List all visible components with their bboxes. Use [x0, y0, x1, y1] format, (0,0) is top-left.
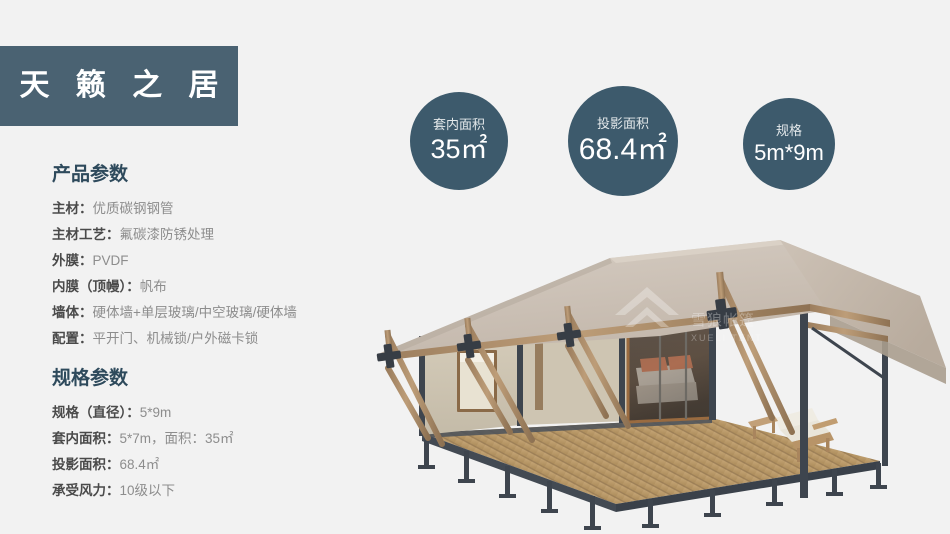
badge-projected-area: 投影面积 68.4㎡: [568, 86, 678, 196]
spec-label: 内膜（顶幔）：: [52, 279, 140, 294]
spec-panel: 产品参数 主材：优质碳钢钢管 主材工艺：氟碳漆防锈处理 外膜：PVDF 内膜（顶…: [52, 164, 372, 520]
spec-row: 投影面积：68.4㎡: [52, 452, 372, 478]
spec-value: 10级以下: [120, 483, 176, 498]
spec-value: 帆布: [140, 279, 167, 294]
spec-label: 配置：: [52, 331, 93, 346]
specification-parameters-section: 规格参数 规格（直径）：5*9m 套内面积：5*7m，面积：35㎡ 投影面积：6…: [52, 368, 372, 504]
spec-row: 承受风力：10级以下: [52, 478, 372, 504]
tent-illustration: 雪狼帐篷 XUELI TENT: [360, 218, 950, 534]
spec-value: 68.4㎡: [120, 457, 160, 472]
product-parameters-heading: 产品参数: [52, 164, 372, 187]
page-title: 天 籁 之 居: [10, 71, 227, 101]
product-parameters-section: 产品参数 主材：优质碳钢钢管 主材工艺：氟碳漆防锈处理 外膜：PVDF 内膜（顶…: [52, 164, 372, 352]
spec-value: 平开门、机械锁/户外磁卡锁: [93, 331, 259, 346]
watermark-subtext: XUELI TENT: [691, 333, 763, 343]
spec-label: 承受风力：: [52, 483, 120, 498]
spec-value: 优质碳钢钢管: [93, 201, 174, 216]
spec-value: PVDF: [93, 253, 129, 268]
badge-group: 套内面积 35㎡ 投影面积 68.4㎡ 规格 5m*9m: [410, 86, 920, 196]
spec-label: 外膜：: [52, 253, 93, 268]
spec-label: 墙体：: [52, 305, 93, 320]
badge-value: 35㎡: [430, 135, 487, 163]
spec-label: 主材工艺：: [52, 227, 120, 242]
spec-value: 氟碳漆防锈处理: [120, 227, 215, 242]
spec-row: 墙体：硬体墙+单层玻璃/中空玻璃/硬体墙: [52, 300, 372, 326]
badge-label: 规格: [776, 124, 802, 138]
spec-row: 主材：优质碳钢钢管: [52, 196, 372, 222]
spec-value: 5*9m: [140, 405, 172, 420]
spec-value: 硬体墙+单层玻璃/中空玻璃/硬体墙: [93, 305, 297, 320]
spec-label: 规格（直径）：: [52, 405, 140, 420]
spec-row: 外膜：PVDF: [52, 248, 372, 274]
tent-render-image: 雪狼帐篷 XUELI TENT: [360, 218, 950, 534]
spec-label: 投影面积：: [52, 457, 120, 472]
spec-value: 5*7m，面积：35㎡: [120, 431, 234, 446]
spec-row: 内膜（顶幔）：帆布: [52, 274, 372, 300]
badge-label: 投影面积: [597, 117, 649, 131]
spec-row: 套内面积：5*7m，面积：35㎡: [52, 426, 372, 452]
spec-label: 套内面积：: [52, 431, 120, 446]
badge-label: 套内面积: [433, 118, 485, 132]
badge-value: 68.4㎡: [579, 134, 667, 166]
spec-row: 主材工艺：氟碳漆防锈处理: [52, 222, 372, 248]
badge-interior-area: 套内面积 35㎡: [410, 92, 508, 190]
title-banner: 天 籁 之 居: [0, 46, 238, 126]
spec-label: 主材：: [52, 201, 93, 216]
page-root: 天 籁 之 居 产品参数 主材：优质碳钢钢管 主材工艺：氟碳漆防锈处理 外膜：P…: [0, 0, 950, 534]
watermark-text: 雪狼帐篷: [691, 311, 755, 329]
spec-row: 配置：平开门、机械锁/户外磁卡锁: [52, 326, 372, 352]
badge-dimensions: 规格 5m*9m: [743, 98, 835, 190]
badge-value: 5m*9m: [754, 141, 824, 164]
specification-parameters-heading: 规格参数: [52, 368, 372, 391]
spec-row: 规格（直径）：5*9m: [52, 400, 372, 426]
